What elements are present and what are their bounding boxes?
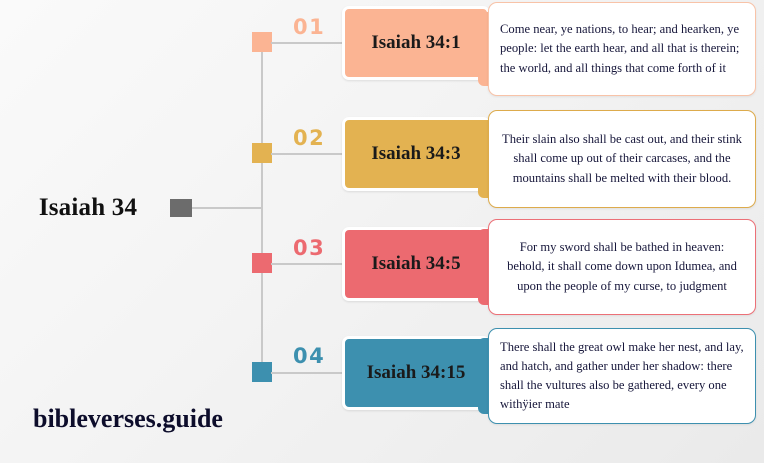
step-number: 01: [293, 15, 325, 39]
branch-node-square[interactable]: [252, 253, 272, 273]
branch-node-square[interactable]: [252, 143, 272, 163]
root-node: [170, 199, 192, 217]
verse-text: There shall the great owl make her nest,…: [500, 338, 744, 415]
verse-text: Their slain also shall be cast out, and …: [500, 130, 744, 187]
verse-text-card[interactable]: Their slain also shall be cast out, and …: [488, 110, 756, 208]
verse-text: Come near, ye nations, to hear; and hear…: [500, 20, 744, 77]
branch-arm-connector: [271, 372, 342, 374]
verse-label-box[interactable]: Isaiah 34:15: [342, 336, 490, 410]
branch-arm-connector: [271, 263, 342, 265]
verse-text: For my sword shall be bathed in heaven: …: [500, 238, 744, 295]
verse-label-box[interactable]: Isaiah 34:5: [342, 227, 490, 301]
verse-text-card[interactable]: For my sword shall be bathed in heaven: …: [488, 219, 756, 315]
footer-brand: bibleverses.guide: [33, 404, 223, 434]
step-number: 04: [293, 344, 325, 368]
branch-arm-connector: [271, 42, 342, 44]
vertical-spine-connector: [261, 41, 263, 371]
verse-label-box[interactable]: Isaiah 34:3: [342, 117, 490, 191]
branch-node-square[interactable]: [252, 362, 272, 382]
verse-label-text: Isaiah 34:5: [371, 253, 460, 275]
root-stem-connector: [192, 207, 262, 209]
step-number: 02: [293, 126, 325, 150]
verse-text-card[interactable]: There shall the great owl make her nest,…: [488, 328, 756, 424]
verse-text-card[interactable]: Come near, ye nations, to hear; and hear…: [488, 2, 756, 96]
branch-arm-connector: [271, 153, 342, 155]
step-number: 03: [293, 236, 325, 260]
root-label: Isaiah 34: [8, 194, 168, 222]
verse-label-text: Isaiah 34:3: [371, 143, 460, 165]
verse-label-text: Isaiah 34:1: [371, 32, 460, 54]
verse-label-box[interactable]: Isaiah 34:1: [342, 6, 490, 80]
diagram-canvas: Isaiah 34 01Isaiah 34:1Come near, ye nat…: [0, 0, 764, 463]
branch-node-square[interactable]: [252, 32, 272, 52]
verse-label-text: Isaiah 34:15: [367, 362, 466, 384]
